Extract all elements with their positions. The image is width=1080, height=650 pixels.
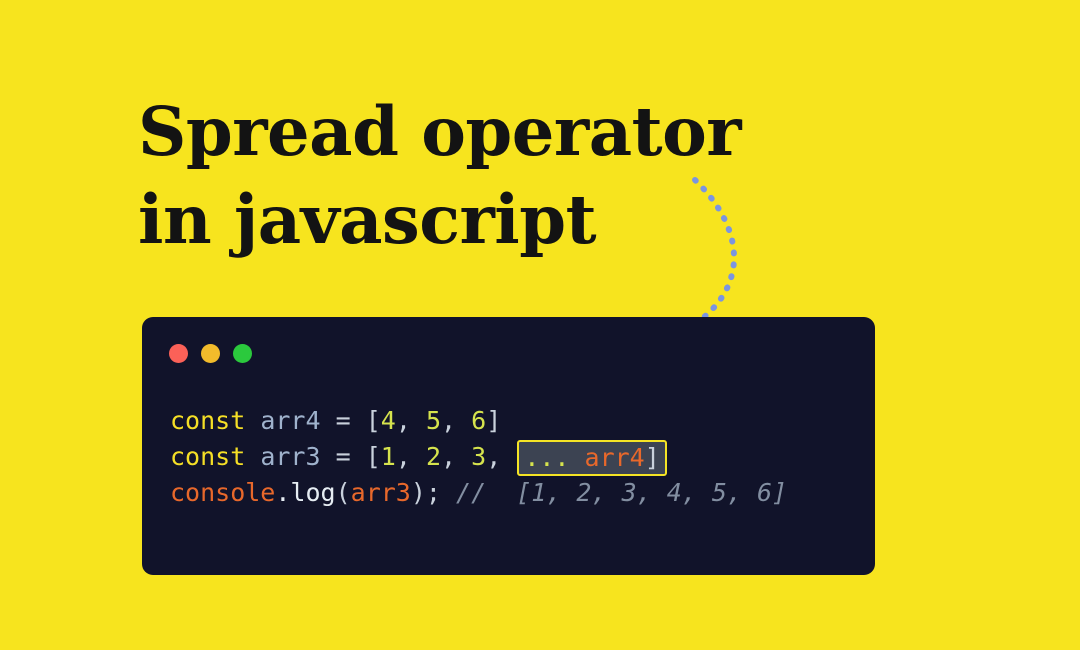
token-close-bracket: ] bbox=[645, 443, 660, 472]
token-keyword: const bbox=[170, 406, 245, 435]
token-method: log bbox=[290, 478, 335, 507]
code-line-2: const arr3 = [1, 2, 3, ... arr4] bbox=[170, 439, 865, 475]
title-line-1: Spread operator bbox=[138, 88, 838, 176]
token-close-paren: ); bbox=[411, 478, 441, 507]
token-operator: = bbox=[336, 406, 351, 435]
code-line-1: const arr4 = [4, 5, 6] bbox=[170, 403, 865, 439]
token-number-1: 4 bbox=[381, 406, 396, 435]
maximize-icon[interactable] bbox=[233, 344, 252, 363]
token-open-paren: ( bbox=[336, 478, 351, 507]
token-spread-dots: ... bbox=[524, 443, 569, 472]
code-body: const arr4 = [4, 5, 6] const arr3 = [1, … bbox=[170, 403, 865, 511]
token-open-bracket: [ bbox=[366, 406, 381, 435]
token-close-bracket: ] bbox=[486, 406, 501, 435]
token-open-bracket: [ bbox=[366, 442, 381, 471]
token-separator-3: , bbox=[486, 442, 516, 471]
minimize-icon[interactable] bbox=[201, 344, 220, 363]
token-number-2: 5 bbox=[426, 406, 441, 435]
page-title: Spread operator in javascript bbox=[138, 88, 838, 264]
token-separator-2: , bbox=[441, 442, 471, 471]
token-separator-1: , bbox=[396, 442, 426, 471]
token-variable: arr3 bbox=[260, 442, 320, 471]
close-icon[interactable] bbox=[169, 344, 188, 363]
token-comment: // [1, 2, 3, 4, 5, 6] bbox=[441, 478, 787, 507]
token-dot: . bbox=[275, 478, 290, 507]
token-object: console bbox=[170, 478, 275, 507]
token-number-1: 1 bbox=[381, 442, 396, 471]
window-traffic-lights bbox=[169, 344, 252, 363]
token-separator-1: , bbox=[396, 406, 426, 435]
token-number-2: 2 bbox=[426, 442, 441, 471]
spread-highlight-box[interactable]: ... arr4] bbox=[517, 440, 666, 476]
token-argument: arr3 bbox=[351, 478, 411, 507]
token-number-3: 3 bbox=[471, 442, 486, 471]
poster-canvas: Spread operator in javascript const arr4… bbox=[0, 0, 1080, 650]
token-separator-2: , bbox=[441, 406, 471, 435]
token-keyword: const bbox=[170, 442, 245, 471]
title-line-2: in javascript bbox=[138, 176, 838, 264]
token-number-3: 6 bbox=[471, 406, 486, 435]
token-variable: arr4 bbox=[260, 406, 320, 435]
token-spread-variable: arr4 bbox=[569, 443, 644, 472]
token-operator: = bbox=[336, 442, 351, 471]
code-line-3: console.log(arr3); // [1, 2, 3, 4, 5, 6] bbox=[170, 475, 865, 511]
code-window: const arr4 = [4, 5, 6] const arr3 = [1, … bbox=[142, 317, 875, 575]
